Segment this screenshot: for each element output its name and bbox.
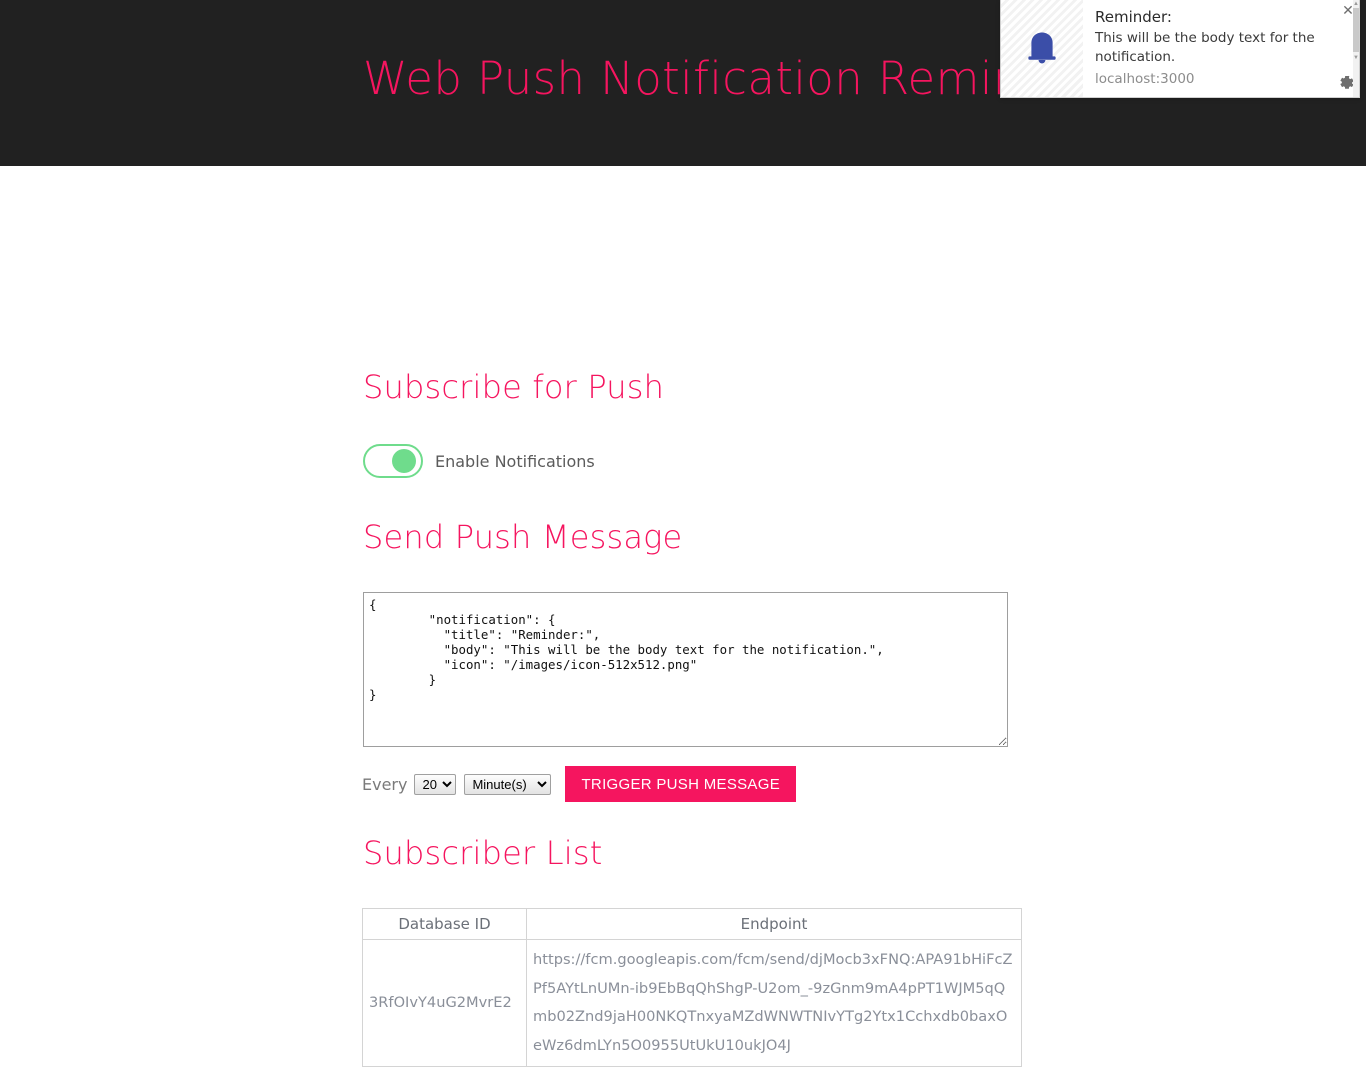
page-title: Web Push Notification Reminder bbox=[363, 52, 1098, 106]
toast-title: Reminder: bbox=[1095, 8, 1349, 27]
table-header-row: Database ID Endpoint bbox=[363, 909, 1022, 940]
subscriber-table: Database ID Endpoint 3RfOIvY4uG2MvrE2 ht… bbox=[362, 908, 1022, 1067]
enable-notifications-label: Enable Notifications bbox=[435, 452, 595, 471]
toast-scrollbar[interactable]: ▲ ▼ bbox=[1353, 0, 1359, 98]
toast-origin: localhost:3000 bbox=[1095, 70, 1349, 88]
every-label: Every bbox=[362, 775, 407, 794]
enable-notifications-row: Enable Notifications bbox=[363, 443, 595, 479]
cell-database-id: 3RfOIvY4uG2MvrE2 bbox=[363, 940, 527, 1067]
toast-body: Reminder: This will be the body text for… bbox=[1083, 0, 1359, 97]
column-header-database-id: Database ID bbox=[363, 909, 527, 940]
push-payload-textarea[interactable] bbox=[363, 592, 1008, 747]
cell-endpoint: https://fcm.googleapis.com/fcm/send/djMo… bbox=[527, 940, 1022, 1067]
scrollbar-thumb[interactable] bbox=[1353, 8, 1359, 52]
subscriber-table-head: Database ID Endpoint bbox=[363, 909, 1022, 940]
section-heading-subscribe: Subscribe for Push bbox=[363, 368, 664, 406]
interval-select[interactable]: 15101520304560 bbox=[414, 774, 456, 795]
toggle-knob bbox=[392, 449, 416, 473]
trigger-controls-row: Every 15101520304560 Second(s)Minute(s)H… bbox=[362, 766, 796, 802]
table-row: 3RfOIvY4uG2MvrE2 https://fcm.googleapis.… bbox=[363, 940, 1022, 1067]
toast-icon-pane bbox=[1001, 0, 1083, 97]
subscriber-table-body: 3RfOIvY4uG2MvrE2 https://fcm.googleapis.… bbox=[363, 940, 1022, 1067]
interval-unit-select[interactable]: Second(s)Minute(s)Hour(s)Day(s) bbox=[464, 774, 551, 795]
enable-notifications-toggle[interactable] bbox=[363, 444, 423, 478]
column-header-endpoint: Endpoint bbox=[527, 909, 1022, 940]
trigger-push-message-button[interactable]: TRIGGER PUSH MESSAGE bbox=[565, 766, 796, 802]
browser-notification-toast[interactable]: Reminder: This will be the body text for… bbox=[1000, 0, 1360, 98]
scroll-up-arrow-icon[interactable]: ▲ bbox=[1353, 0, 1359, 8]
section-heading-send: Send Push Message bbox=[363, 518, 682, 556]
scroll-down-arrow-icon[interactable]: ▼ bbox=[1353, 54, 1359, 62]
push-payload-wrapper bbox=[363, 592, 1008, 747]
toast-message: This will be the body text for the notif… bbox=[1095, 29, 1320, 67]
bell-icon bbox=[1020, 27, 1064, 71]
section-heading-subscriber-list: Subscriber List bbox=[363, 834, 602, 872]
